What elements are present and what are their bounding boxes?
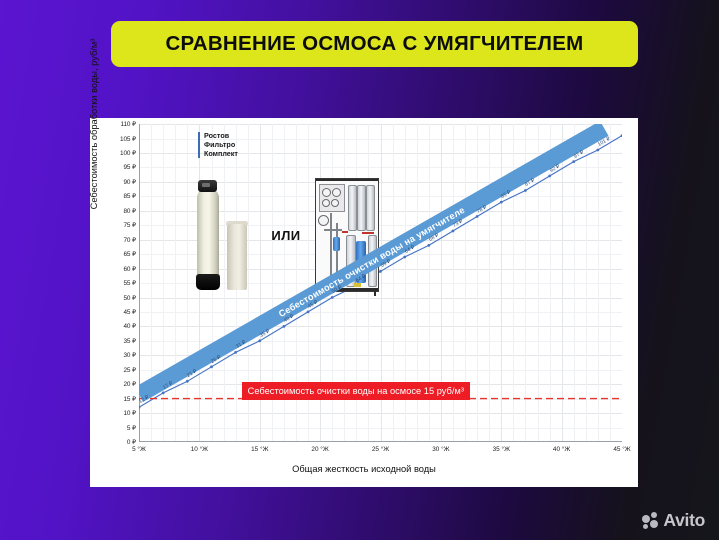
y-tick-label: 45 ₽ bbox=[123, 308, 136, 316]
y-tick-label: 75 ₽ bbox=[123, 221, 136, 229]
y-tick-label: 95 ₽ bbox=[123, 163, 136, 171]
data-point-marker bbox=[186, 380, 189, 383]
y-tick-label: 25 ₽ bbox=[123, 366, 136, 374]
data-point-marker bbox=[283, 325, 286, 328]
y-tick-label: 70 ₽ bbox=[123, 236, 136, 244]
osmosis-cost-banner: Себестоимость очистки воды на осмосе 15 … bbox=[242, 382, 470, 400]
y-tick-label: 40 ₽ bbox=[123, 322, 136, 330]
y-tick-label: 50 ₽ bbox=[123, 294, 136, 302]
x-tick-label: 20 °Ж bbox=[311, 446, 328, 453]
x-tick-label: 25 °Ж bbox=[372, 446, 389, 453]
y-tick-label: 35 ₽ bbox=[123, 337, 136, 345]
x-axis-title-text: Общая жесткость исходной воды bbox=[292, 464, 436, 474]
chart-card: Себестоимость обработки воды, руб/м³ 0 ₽… bbox=[90, 118, 638, 487]
data-point-marker bbox=[331, 296, 334, 299]
data-point-marker bbox=[162, 392, 165, 395]
data-point-marker bbox=[210, 365, 213, 368]
x-tick-label: 30 °Ж bbox=[432, 446, 449, 453]
data-point-marker bbox=[596, 149, 599, 152]
or-label: ИЛИ bbox=[263, 228, 309, 243]
y-tick-label: 30 ₽ bbox=[123, 351, 136, 359]
avito-watermark: Avito bbox=[642, 510, 705, 531]
y-tick-label: 20 ₽ bbox=[123, 380, 136, 388]
data-point-marker bbox=[307, 311, 310, 314]
data-point-marker bbox=[427, 244, 430, 247]
y-axis-title: Себестоимость обработки воды, руб/м³ bbox=[89, 34, 99, 214]
y-tick-label: 100 ₽ bbox=[120, 149, 136, 157]
data-point-marker bbox=[500, 201, 503, 204]
data-point-marker bbox=[548, 175, 551, 178]
y-tick-label: 80 ₽ bbox=[123, 207, 136, 215]
x-tick-label: 15 °Ж bbox=[251, 446, 268, 453]
y-tick-label: 10 ₽ bbox=[123, 409, 136, 417]
x-tick-label: 40 °Ж bbox=[553, 446, 570, 453]
data-point-marker bbox=[258, 339, 261, 342]
title-banner: СРАВНЕНИЕ ОСМОСА С УМЯГЧИТЕЛЕМ bbox=[111, 21, 638, 67]
y-tick-label: 105 ₽ bbox=[120, 135, 136, 143]
data-point-marker bbox=[476, 215, 479, 218]
data-point-marker bbox=[452, 230, 455, 233]
y-axis-title-text: Себестоимость обработки воды, руб/м³ bbox=[89, 39, 99, 210]
data-point-marker bbox=[572, 160, 575, 163]
x-tick-label: 45 °Ж bbox=[613, 446, 630, 453]
y-tick-label: 110 ₽ bbox=[120, 120, 136, 128]
y-tick-label: 90 ₽ bbox=[123, 178, 136, 186]
x-tick-label: 5 °Ж bbox=[132, 446, 146, 453]
data-point-marker bbox=[234, 351, 237, 354]
y-tick-label: 15 ₽ bbox=[123, 395, 136, 403]
plot-area: Ростов Фильтро Комплект ИЛИ bbox=[139, 124, 622, 442]
product-comparison-group: ИЛИ bbox=[193, 172, 423, 292]
y-tick-label: 55 ₽ bbox=[123, 279, 136, 287]
avito-logo-text: Avito bbox=[663, 510, 705, 531]
y-tick-label: 0 ₽ bbox=[127, 438, 136, 446]
y-tick-label: 85 ₽ bbox=[123, 192, 136, 200]
x-tick-label: 10 °Ж bbox=[191, 446, 208, 453]
watermark: Ростов Фильтро Комплект bbox=[198, 132, 238, 158]
avito-logo-icon bbox=[642, 512, 659, 529]
page-title: СРАВНЕНИЕ ОСМОСА С УМЯГЧИТЕЛЕМ bbox=[165, 32, 583, 56]
y-tick-label: 60 ₽ bbox=[123, 265, 136, 273]
y-tick-label: 65 ₽ bbox=[123, 250, 136, 258]
y-axis-ticks: 0 ₽5 ₽10 ₽15 ₽20 ₽25 ₽30 ₽35 ₽40 ₽45 ₽50… bbox=[104, 124, 136, 442]
y-tick-label: 5 ₽ bbox=[127, 424, 136, 432]
data-point-marker bbox=[524, 189, 527, 192]
watermark-line-3: Комплект bbox=[204, 150, 238, 159]
x-axis-title: Общая жесткость исходной воды bbox=[90, 464, 638, 474]
x-tick-label: 35 °Ж bbox=[493, 446, 510, 453]
x-axis-ticks: 5 °Ж10 °Ж15 °Ж20 °Ж25 °Ж30 °Ж35 °Ж40 °Ж4… bbox=[139, 446, 622, 460]
osmosis-cost-banner-label: Себестоимость очистки воды на осмосе 15 … bbox=[248, 386, 464, 396]
